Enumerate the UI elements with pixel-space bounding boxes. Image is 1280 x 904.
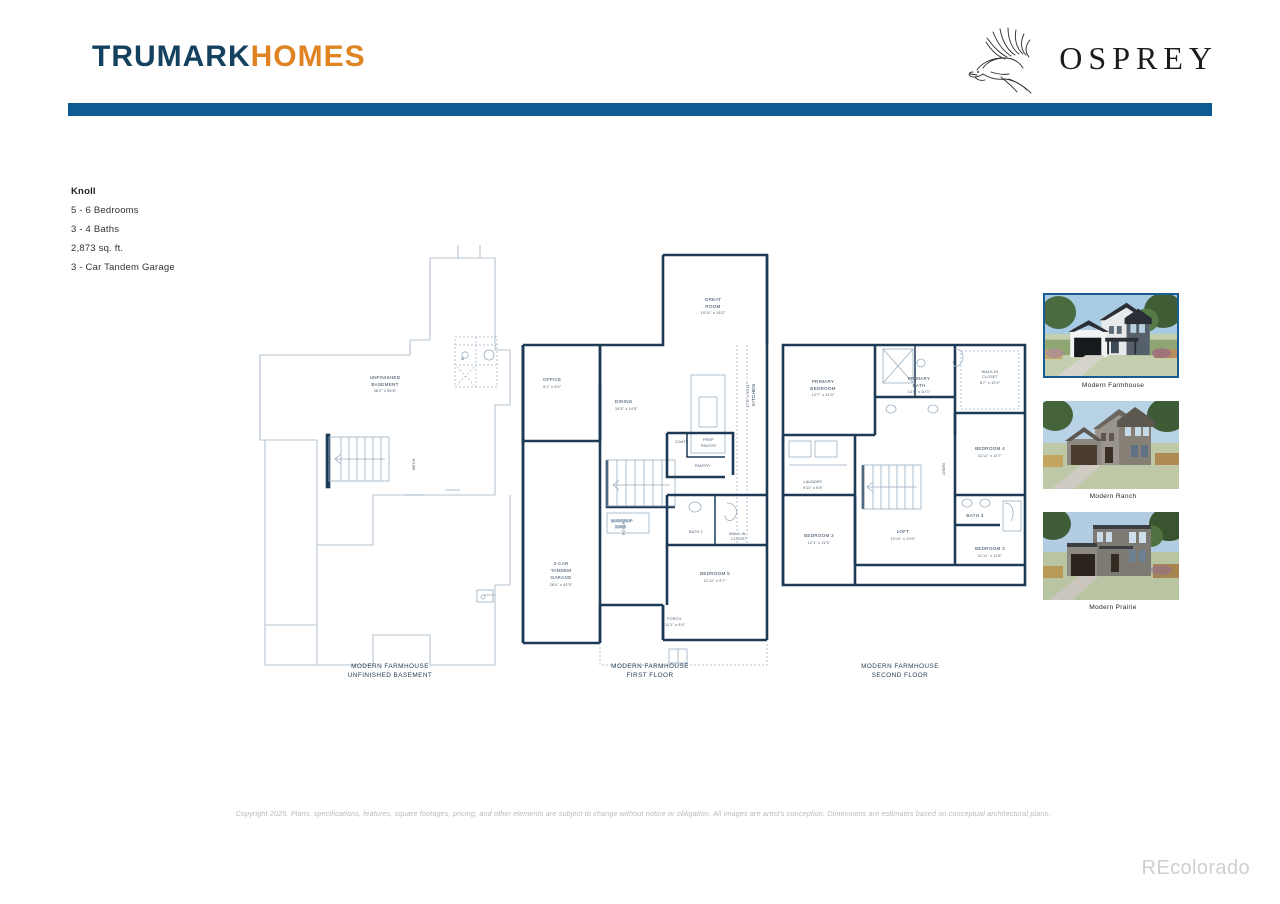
room-label-great-room-2: ROOM	[705, 304, 720, 309]
caption-first-line1: MODERN FARMHOUSE	[565, 662, 735, 671]
osprey-wordmark: OSPREY	[1059, 42, 1218, 74]
room-label-office: OFFICE	[543, 377, 561, 382]
caption-basement-line1: MODERN FARMHOUSE	[300, 662, 480, 671]
elevation-image-modern-farmhouse[interactable]	[1043, 293, 1179, 378]
plan-baths: 3 - 4 Baths	[71, 224, 331, 235]
room-dims-kitchen: 17'5" x 10'11"	[746, 382, 750, 407]
room-label-basement-2: BASEMENT	[371, 382, 398, 387]
elevation-image-modern-prairie[interactable]	[1043, 512, 1179, 600]
elevation-modern-prairie[interactable]: Modern Prairie	[1043, 512, 1183, 611]
plan-bedrooms: 5 - 6 Bedrooms	[71, 205, 331, 216]
brand-name-part1: TRUMARK	[92, 40, 251, 73]
plan-name: Knoll	[71, 186, 331, 197]
svg-text:BATH 2: BATH 2	[689, 530, 703, 534]
first-floor-plan: COATS PREP PANTRY PANTRY BATH 2 WALK-IN …	[523, 255, 767, 665]
svg-text:M: M	[461, 357, 464, 361]
caption-second-floor: MODERN FARMHOUSE SECOND FLOOR	[810, 662, 990, 681]
room-label-primary-bath: PRIMARY	[908, 376, 931, 381]
room-dims-walkin-closet: 8'7" x 10'9"	[980, 381, 1001, 385]
caption-second-line2: SECOND FLOOR	[810, 671, 990, 680]
elevation-caption-modern-prairie: Modern Prairie	[1043, 604, 1183, 611]
room-dims-bedroom-3: 11'11" x 11'8"	[978, 554, 1003, 558]
house-rendering-prairie	[1043, 512, 1179, 600]
room-dims-bedroom-2: 12'1" x 11'3"	[808, 541, 831, 545]
room-label-loft: LOFT	[897, 529, 910, 534]
room-label-garage-3: GARAGE	[550, 575, 571, 580]
elevation-thumbnails: Modern Farmhouse	[1043, 293, 1183, 623]
legal-disclaimer: Copyright 2025. Plans, specifications, f…	[128, 808, 1158, 821]
house-rendering-ranch	[1043, 401, 1179, 489]
recolorado-watermark: REcolorado	[1141, 857, 1250, 880]
room-dims-primary-bedroom: 12'7" x 14'3"	[812, 393, 835, 397]
elevation-modern-ranch[interactable]: Modern Ranch	[1043, 401, 1183, 500]
svg-text:PORCH: PORCH	[667, 617, 681, 621]
svg-text:MUD/DROP: MUD/DROP	[611, 519, 633, 523]
room-dims-dining: 15'3" x 14'5"	[615, 407, 638, 411]
svg-text:PREP: PREP	[703, 438, 714, 442]
room-label-garage-2: TANDEM	[551, 568, 572, 573]
header-divider-bar	[68, 103, 1212, 116]
svg-text:PANTRY: PANTRY	[695, 464, 711, 468]
room-dims-primary-bath: 13'5" x 10'3"	[908, 390, 931, 394]
room-label-dining: DINING	[615, 399, 633, 404]
room-dims-garage: 28'4" x 42'5"	[550, 583, 573, 587]
osprey-community-logo: OSPREY	[967, 22, 1218, 94]
room-dims-loft: 13'11" x 13'0"	[891, 537, 916, 541]
elevation-image-modern-ranch[interactable]	[1043, 401, 1179, 489]
svg-text:LINEN: LINEN	[942, 463, 946, 475]
room-label-bedroom-5: BEDROOM 5	[700, 571, 730, 576]
room-label-bedroom-3: BEDROOM 3	[975, 546, 1005, 551]
caption-second-line1: MODERN FARMHOUSE	[810, 662, 990, 671]
room-label-laundry: LAUNDRY	[804, 480, 823, 484]
room-label-basement: UNFINISHED	[370, 375, 401, 380]
svg-text:COATS: COATS	[675, 440, 689, 444]
room-label-walkin-closet: WALK-IN	[982, 370, 999, 374]
basement-plan: M	[260, 245, 510, 665]
floor-plan-drawings: .w{fill:none;stroke:#1d3a57;stroke-width…	[255, 245, 1045, 695]
svg-text:CLOSET: CLOSET	[731, 537, 748, 541]
room-label-bedroom-4: BEDROOM 4	[975, 446, 1005, 451]
elevation-modern-farmhouse[interactable]: Modern Farmhouse	[1043, 293, 1183, 389]
caption-basement-line2: UNFINISHED BASEMENT	[300, 671, 480, 680]
osprey-bird-icon	[967, 22, 1053, 94]
caption-first-floor: MODERN FARMHOUSE FIRST FLOOR	[565, 662, 735, 681]
room-dims-bedroom-5: 11'11" x 9'7"	[704, 579, 727, 583]
svg-text:ZONE: ZONE	[615, 525, 626, 529]
room-label-primary-bedroom-2: BEDROOM	[810, 386, 836, 391]
second-floor-plan: LINEN PRIMARY BEDROOM 12'7" x 14'3" PRIM…	[783, 345, 1025, 585]
room-dims-office: 9'1" x 8'0"	[543, 385, 562, 389]
room-label-kitchen: KITCHEN	[751, 384, 756, 406]
elevation-caption-modern-ranch: Modern Ranch	[1043, 493, 1183, 500]
caption-first-line2: FIRST FLOOR	[565, 671, 735, 680]
svg-text:WALK-IN: WALK-IN	[729, 532, 746, 536]
svg-text:11'1" x 5'4": 11'1" x 5'4"	[665, 623, 686, 627]
trumark-homes-logo: TRUMARKHOMES	[92, 42, 366, 72]
svg-text:MECH: MECH	[412, 458, 416, 470]
room-label-primary-bedroom: PRIMARY	[812, 379, 835, 384]
room-label-garage: 3-CAR	[553, 561, 568, 566]
room-dims-basement: 38'2" x 55'8"	[374, 389, 397, 393]
brand-name-part2: HOMES	[251, 40, 366, 73]
elevation-caption-modern-farmhouse: Modern Farmhouse	[1043, 382, 1183, 389]
room-label-bedroom-2: BEDROOM 2	[804, 533, 834, 538]
room-label-walkin-closet-2: CLOSET	[982, 375, 999, 379]
room-label-great-room: GREAT	[705, 297, 722, 302]
svg-text:PANTRY: PANTRY	[701, 444, 717, 448]
room-dims-bedroom-4: 11'11" x 11'7"	[978, 454, 1003, 458]
house-rendering-farmhouse	[1045, 295, 1177, 378]
room-dims-great-room: 15'11" x 18'2"	[701, 311, 726, 315]
brochure-page: TRUMARKHOMES	[0, 0, 1280, 904]
room-label-bath-3: BATH 3	[966, 513, 983, 518]
room-dims-laundry: 9'11" x 6'8"	[803, 486, 824, 490]
room-label-primary-bath-2: BATH	[913, 383, 926, 388]
caption-basement: MODERN FARMHOUSE UNFINISHED BASEMENT	[300, 662, 480, 681]
